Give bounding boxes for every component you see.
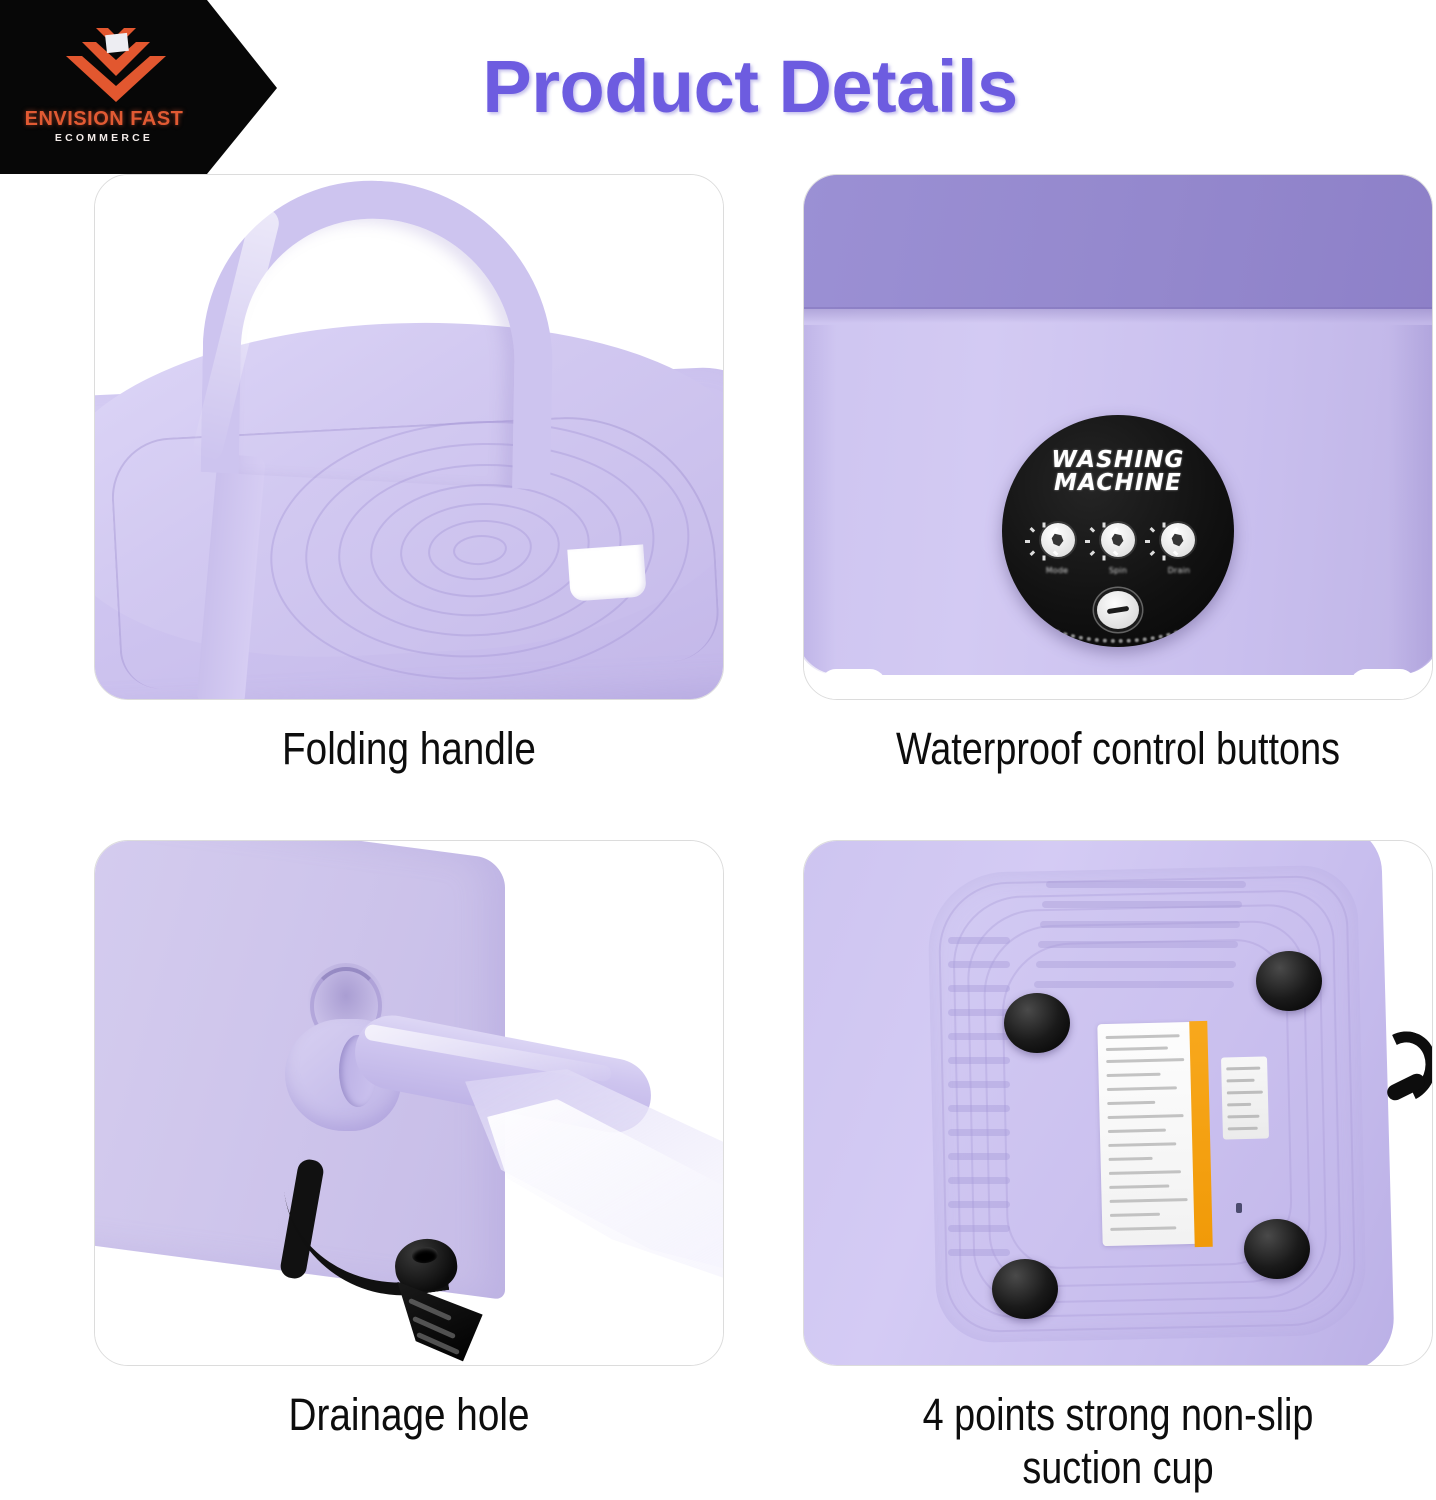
button-glow-rays [1030, 512, 1086, 568]
wash-mode-icon[interactable] [1041, 523, 1075, 557]
panel-caption-suction-cup-line2: suction cup [1022, 1442, 1213, 1493]
power-switch-icon[interactable] [1097, 591, 1139, 629]
panel-caption-suction-cup: 4 points strong non-slip suction cup [853, 1388, 1382, 1494]
suction-cup [1244, 1219, 1310, 1279]
panel-suction-cup: 4 points strong non-slip suction cup [803, 840, 1433, 1494]
page-title: Product Details [300, 44, 1200, 129]
panel-caption-drainage-hole: Drainage hole [138, 1388, 680, 1441]
secondary-label [1221, 1056, 1269, 1139]
panel-caption-control-buttons: Waterproof control buttons [853, 722, 1382, 775]
panel-drainage-hole: Drainage hole [94, 840, 724, 1441]
product-label [1097, 1022, 1198, 1246]
drain-icon[interactable] [1161, 523, 1195, 557]
control-panel-title-line2: MACHINE [1054, 470, 1182, 496]
base-vent-slots-top [1040, 881, 1290, 1001]
photo-frame-suction-cup [803, 840, 1433, 1366]
brand-name: ENVISION FAST [0, 108, 208, 131]
suction-cup [1004, 993, 1070, 1053]
control-panel-title-line1: WASHING [1051, 447, 1184, 473]
button-glow-rays [1090, 512, 1146, 568]
machine-lid [803, 174, 1433, 309]
panel-caption-folding-handle: Folding handle [138, 722, 680, 775]
brand-banner: ENVISION FAST ECOMMERCE [0, 0, 280, 174]
panel-caption-suction-cup-line1: 4 points strong non-slip [923, 1389, 1314, 1440]
base-indicator-dot [1236, 1203, 1242, 1213]
photo-frame-drainage-hole [94, 840, 724, 1366]
photo-frame-folding-handle [94, 174, 724, 700]
button-glow-rays [1150, 512, 1206, 568]
machine-foot-left [820, 669, 886, 700]
control-button-row [1002, 523, 1234, 557]
suction-cup [992, 1259, 1058, 1319]
photo-frame-control-buttons: WASHING MACHINE [803, 174, 1433, 700]
product-details-page: ENVISION FAST ECOMMERCE Product Details … [0, 0, 1436, 1500]
control-panel[interactable]: WASHING MACHINE [1002, 415, 1234, 647]
machine-foot-right [1350, 669, 1416, 700]
base-vent-slots-left [948, 937, 1044, 1287]
lid-release-notch [567, 544, 646, 601]
product-photo-control-buttons: WASHING MACHINE [804, 175, 1432, 699]
product-photo-drainage-hole [95, 841, 723, 1365]
product-photo-suction-cup [804, 841, 1432, 1365]
panel-waterproof-control-buttons: WASHING MACHINE [803, 174, 1433, 775]
panel-folding-handle: Folding handle [94, 174, 724, 775]
body-bevel-left [803, 325, 836, 675]
control-panel-title: WASHING MACHINE [1002, 449, 1234, 496]
suction-cup [1256, 951, 1322, 1011]
spin-cycle-icon[interactable] [1101, 523, 1135, 557]
envision-chevron-logo-icon [62, 22, 170, 106]
brand-subtitle: ECOMMERCE [0, 132, 208, 144]
product-photo-folding-handle [95, 175, 723, 699]
lid-shadow [803, 307, 1433, 323]
body-bevel-right [1388, 325, 1433, 675]
